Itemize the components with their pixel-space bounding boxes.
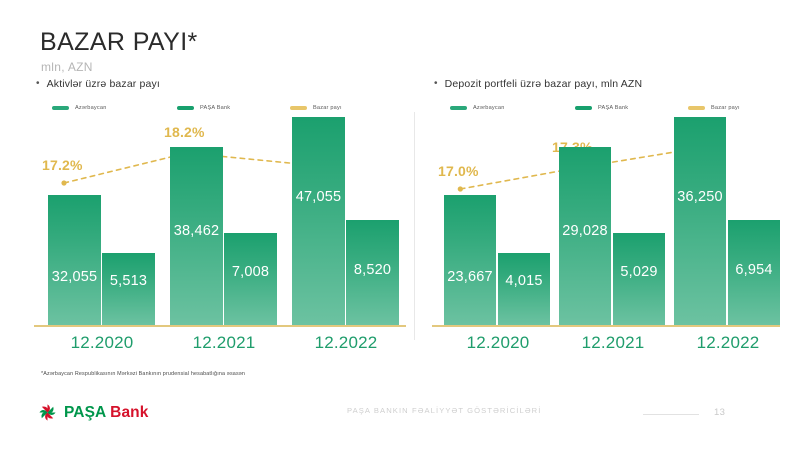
bar-value: 5,513: [102, 273, 155, 289]
bar-value: 5,029: [613, 264, 665, 280]
panel-heading-label: Aktivlər üzrə bazar payı: [47, 78, 160, 90]
bar-value: 6,954: [728, 262, 780, 278]
pct-label-2020: 17.0%: [438, 163, 479, 179]
legend-swatch-icon: [575, 106, 592, 110]
pct-label-2021: 18.2%: [164, 124, 205, 140]
chart-panel-assets: • Aktivlər üzrə bazar payı Azərbaycan PA…: [34, 78, 406, 361]
x-tick-2022: 12.2022: [315, 333, 378, 353]
x-tick-2022: 12.2022: [697, 333, 760, 353]
legend-label: PAŞA Bank: [200, 105, 230, 111]
legend-label: Azərbaycan: [473, 105, 505, 111]
bar-value: 29,028: [559, 223, 611, 239]
panel-heading-assets: • Aktivlər üzrə bazar payı: [34, 78, 406, 92]
slide: BAZAR PAYI* mln, AZN • Aktivlər üzrə baz…: [0, 0, 800, 450]
bar-value: 8,520: [346, 262, 399, 278]
bar-azerbaycan-2021[interactable]: 29,028: [559, 147, 611, 325]
legend-assets: Azərbaycan PAŞA Bank Bazar payı: [34, 105, 406, 111]
page-title: BAZAR PAYI*: [40, 28, 198, 57]
pct-label-2020: 17.2%: [42, 157, 83, 173]
bar-value: 38,462: [170, 223, 223, 239]
legend-item-bazar-payi: Bazar payı: [688, 105, 740, 111]
bar-azerbaycan-2021[interactable]: 38,462: [170, 147, 223, 325]
plot-area-deposits: 17.0% 17.3% 19.2% 23,667 4,015 29,028 5,…: [432, 119, 784, 327]
legend-label: Bazar payı: [711, 105, 740, 111]
axis-baseline: [34, 325, 406, 327]
x-axis-assets: 12.2020 12.2021 12.2022: [34, 333, 406, 361]
legend-item-pasa-bank: PAŞA Bank: [177, 105, 290, 111]
footnote: *Azərbaycan Respublikasının Mərkəzi Bank…: [41, 371, 245, 377]
bar-pasa-2022[interactable]: 8,520: [346, 220, 399, 325]
page-number: 13: [714, 407, 725, 418]
footer-rule: [643, 414, 699, 415]
bar-value: 32,055: [48, 269, 101, 285]
x-tick-2021: 12.2021: [193, 333, 256, 353]
logo-wordmark: PAŞA Bank: [64, 404, 148, 422]
bar-value: 4,015: [498, 273, 550, 289]
bar-value: 23,667: [444, 269, 496, 285]
bullet-icon: •: [434, 78, 438, 90]
bar-pasa-2021[interactable]: 7,008: [224, 233, 277, 325]
chart-panel-deposits: • Depozit portfeli üzrə bazar payı, mln …: [432, 78, 784, 361]
legend-item-bazar-payi: Bazar payı: [290, 105, 342, 111]
legend-item-pasa-bank: PAŞA Bank: [575, 105, 688, 111]
bar-azerbaycan-2022[interactable]: 36,250: [674, 117, 726, 325]
page-subtitle: mln, AZN: [41, 60, 93, 74]
x-tick-2020: 12.2020: [467, 333, 530, 353]
plot-area-assets: 17.2% 18.2% 18.1% 32,055 5,513 38,462 7,…: [34, 119, 406, 327]
bar-value: 7,008: [224, 264, 277, 280]
trend-marker: [458, 186, 463, 191]
bullet-icon: •: [36, 78, 40, 90]
bar-value: 36,250: [674, 189, 726, 205]
pasa-pinwheel-icon: [38, 403, 57, 422]
bar-pasa-2021[interactable]: 5,029: [613, 233, 665, 325]
legend-label: Bazar payı: [313, 105, 342, 111]
bar-pasa-2020[interactable]: 5,513: [102, 253, 155, 325]
panel-heading-label: Depozit portfeli üzrə bazar payı, mln AZ…: [445, 78, 643, 90]
brand-logo[interactable]: PAŞA Bank: [38, 403, 148, 422]
legend-swatch-icon: [688, 106, 705, 110]
footer-caption: PAŞA BANKIN FƏALİYYƏT GÖSTƏRİCİLƏRİ: [347, 406, 541, 415]
panel-divider: [414, 112, 415, 340]
x-tick-2021: 12.2021: [582, 333, 645, 353]
bar-pasa-2022[interactable]: 6,954: [728, 220, 780, 325]
legend-label: PAŞA Bank: [598, 105, 628, 111]
bar-pasa-2020[interactable]: 4,015: [498, 253, 550, 325]
logo-text-pasa: PAŞA: [64, 404, 110, 421]
legend-swatch-icon: [450, 106, 467, 110]
bar-value: 47,055: [292, 189, 345, 205]
legend-item-azerbaycan: Azərbaycan: [52, 105, 177, 111]
logo-text-bank: Bank: [110, 404, 148, 421]
legend-label: Azərbaycan: [75, 105, 107, 111]
x-axis-deposits: 12.2020 12.2021 12.2022: [432, 333, 784, 361]
legend-swatch-icon: [177, 106, 194, 110]
legend-swatch-icon: [52, 106, 69, 110]
bar-azerbaycan-2020[interactable]: 32,055: [48, 195, 101, 325]
bar-azerbaycan-2022[interactable]: 47,055: [292, 117, 345, 325]
bar-azerbaycan-2020[interactable]: 23,667: [444, 195, 496, 325]
trend-marker: [61, 180, 66, 185]
legend-item-azerbaycan: Azərbaycan: [450, 105, 575, 111]
legend-swatch-icon: [290, 106, 307, 110]
axis-baseline: [432, 325, 780, 327]
x-tick-2020: 12.2020: [71, 333, 134, 353]
legend-deposits: Azərbaycan PAŞA Bank Bazar payı: [432, 105, 784, 111]
panel-heading-deposits: • Depozit portfeli üzrə bazar payı, mln …: [432, 78, 784, 92]
